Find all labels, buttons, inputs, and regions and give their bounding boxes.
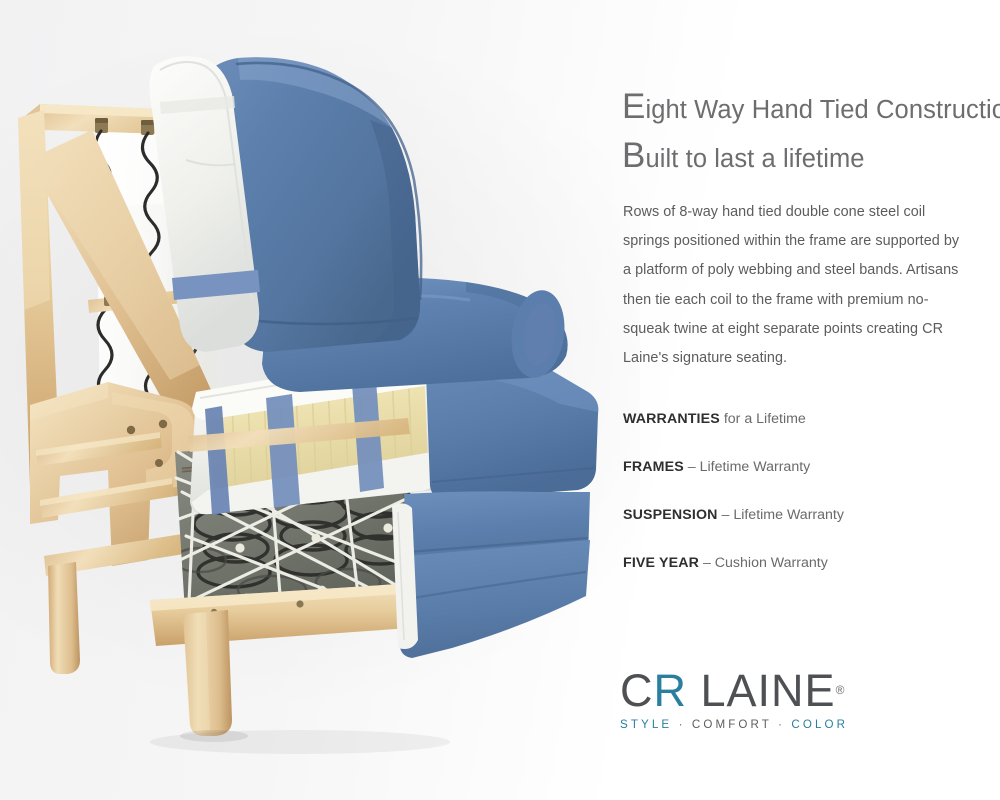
warranty-separator: – [721,507,729,523]
warranty-desc-suspension: Lifetime Warranty [733,507,844,523]
headline-block: Eight Way Hand Tied Construction... Buil… [622,86,994,184]
warranties-heading-term: WARRANTIES [623,411,720,427]
tagline-color: COLOR [791,718,848,731]
skirt-panel-lower [400,540,590,658]
warranties-heading: WARRANTIES for a Lifetime [623,409,983,429]
warranty-item-five-year: FIVE YEAR – Cushion Warranty [623,553,983,573]
logo-letter-c: C [620,665,654,716]
tagline-comfort: COMFORT [692,718,772,731]
tagline-style: STYLE [620,718,672,731]
headline-line-2: Built to last a lifetime [622,135,994,184]
headline-line-1-text: ight Way Hand Tied Construction... [645,96,1000,124]
headline-dropcap-b: B [622,136,645,175]
chair-construction-image [0,0,640,800]
warranties-block: WARRANTIES for a Lifetime FRAMES – Lifet… [623,409,983,573]
warranties-heading-rest: for a Lifetime [720,411,806,427]
headline-dropcap-e: E [622,87,645,126]
headline-line-2-text: uilt to last a lifetime [645,145,864,173]
warranty-term-frames: FRAMES [623,459,684,475]
rear-left-leg [48,562,80,674]
logo-word-laine: LAINE [687,665,836,716]
tagline-dot-icon: · [778,718,785,731]
poster-root: Eight Way Hand Tied Construction... Buil… [0,0,1000,800]
headline-line-1: Eight Way Hand Tied Construction... [622,86,994,135]
warranty-desc-frames: Lifetime Warranty [700,459,811,475]
logo-tagline: STYLE · COMFORT · COLOR [620,718,850,731]
tagline-dot-icon: · [679,718,686,731]
logo-letter-r: R [654,665,688,716]
body-paragraph: Rows of 8-way hand tied double cone stee… [623,198,968,373]
warranty-separator: – [703,555,711,571]
warranty-desc-five-year: Cushion Warranty [715,555,828,571]
front-left-leg [183,610,232,736]
warranty-term-suspension: SUSPENSION [623,507,718,523]
logo-wordmark: CR LAINE® [620,666,850,715]
cr-laine-logo: CR LAINE® STYLE · COMFORT · COLOR [620,666,850,731]
warranty-item-frames: FRAMES – Lifetime Warranty [623,457,983,477]
warranty-separator: – [688,459,696,475]
warranty-term-five-year: FIVE YEAR [623,555,699,571]
warranty-item-suspension: SUSPENSION – Lifetime Warranty [623,505,983,525]
registered-trademark-icon: ® [836,683,845,697]
